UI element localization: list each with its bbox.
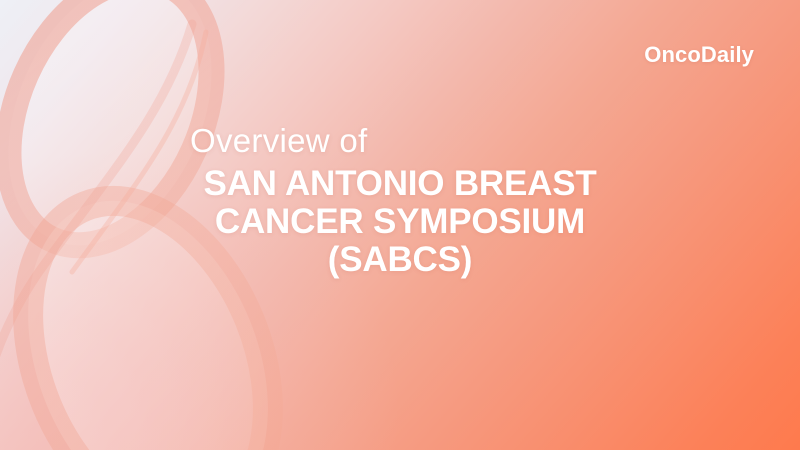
headline-block: Overview of SAN ANTONIO BREAST CANCER SY… bbox=[0, 124, 800, 278]
title-line-1: SAN ANTONIO BREAST bbox=[0, 165, 800, 203]
headline-title: SAN ANTONIO BREAST CANCER SYMPOSIUM (SAB… bbox=[0, 165, 800, 278]
headline-kicker: Overview of bbox=[190, 124, 610, 157]
title-line-2: CANCER SYMPOSIUM bbox=[0, 203, 800, 241]
promo-slide: OncoDaily Overview of SAN ANTONIO BREAST… bbox=[0, 0, 800, 450]
title-line-3: (SABCS) bbox=[0, 241, 800, 279]
brand-logo[interactable]: OncoDaily bbox=[644, 42, 754, 68]
